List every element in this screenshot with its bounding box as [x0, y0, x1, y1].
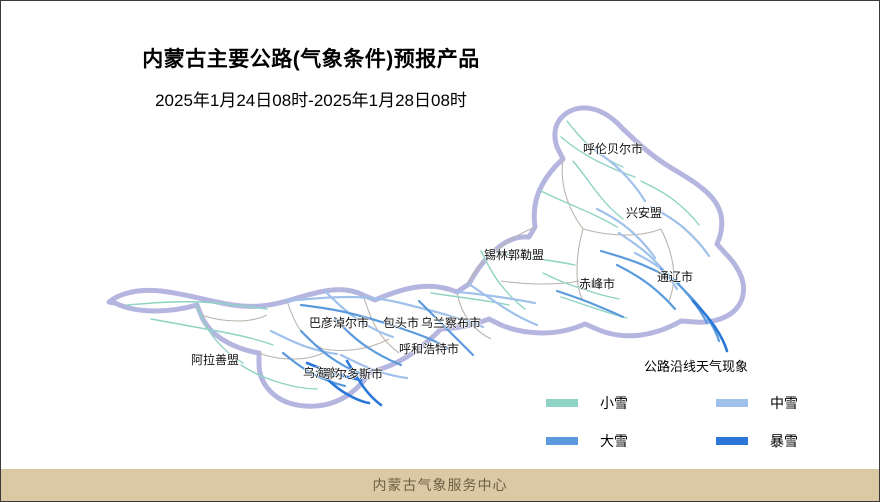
page-title: 内蒙古主要公路(气象条件)预报产品 — [1, 47, 621, 72]
legend-title: 公路沿线天气现象 — [541, 356, 851, 375]
map-label-alxa: 阿拉善盟 — [191, 351, 239, 368]
legend-swatch-light-snow — [546, 399, 578, 407]
legend-swatch-blizzard — [716, 437, 748, 445]
legend-item-heavy-snow: 大雪 — [546, 431, 628, 451]
map-label-tongliao: 通辽市 — [657, 268, 693, 285]
forecast-period: 2025年1月24日08时-2025年1月28日08时 — [1, 86, 621, 111]
legend-label-heavy-snow: 大雪 — [600, 431, 628, 451]
map-label-xilingol: 锡林郭勒盟 — [484, 246, 544, 263]
legend-item-blizzard: 暴雪 — [716, 431, 798, 451]
footer-bar: 内蒙古气象服务中心 — [1, 469, 879, 501]
map-label-hinggan: 兴安盟 — [626, 204, 662, 221]
legend-label-blizzard: 暴雪 — [770, 431, 798, 451]
legend-swatch-heavy-snow — [546, 437, 578, 445]
map-label-chifeng: 赤峰市 — [579, 275, 615, 292]
map-label-ulanqab: 乌兰察布市 — [421, 314, 481, 331]
legend-item-light-snow: 小雪 — [546, 393, 628, 413]
footer-organization-name: 内蒙古气象服务中心 — [373, 475, 508, 495]
forecast-product-page: 呼伦贝尔市 兴安盟 锡林郭勒盟 赤峰市 通辽市 巴彦淖尔市 包头市 乌兰察布市 … — [0, 0, 880, 502]
map-label-baotou: 包头市 — [383, 314, 419, 331]
map-label-hohhot: 呼和浩特市 — [399, 340, 459, 357]
legend-label-light-snow: 小雪 — [600, 393, 628, 413]
legend: 公路沿线天气现象 小雪 中雪 大雪 暴雪 — [541, 356, 851, 456]
map-label-bayannur: 巴彦淖尔市 — [309, 314, 369, 331]
legend-item-moderate-snow: 中雪 — [716, 393, 798, 413]
map-label-hulunbuir: 呼伦贝尔市 — [583, 140, 643, 157]
legend-label-moderate-snow: 中雪 — [770, 393, 798, 413]
legend-swatch-moderate-snow — [716, 399, 748, 407]
map-label-ordos: 鄂尔多斯市 — [323, 365, 383, 382]
title-block: 内蒙古主要公路(气象条件)预报产品 2025年1月24日08时-2025年1月2… — [1, 47, 621, 111]
